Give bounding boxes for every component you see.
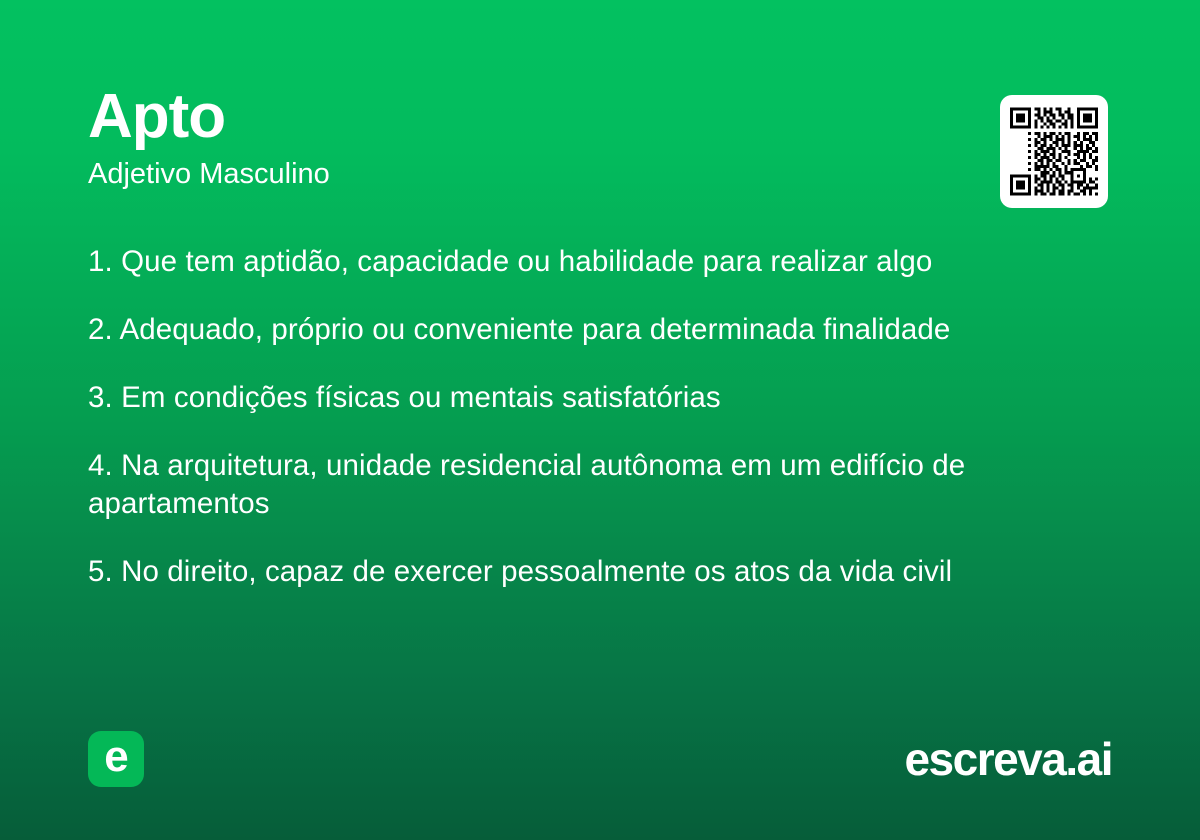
definition-list: 1. Que tem aptidão, capacidade ou habili… (88, 243, 1100, 591)
grammatical-class-label: Adjetivo Masculino (88, 157, 968, 192)
dictionary-definition-card: Apto Adjetivo Masculino (0, 0, 1200, 840)
page-title: Apto (88, 84, 968, 149)
card-header: Apto Adjetivo Masculino (88, 84, 968, 192)
list-item: 3. Em condições físicas ou mentais satis… (88, 379, 1100, 417)
logo-letter: e (104, 735, 127, 779)
qr-code-icon[interactable] (1000, 95, 1108, 208)
list-item: 2. Adequado, próprio ou conveniente para… (88, 311, 1100, 349)
brand-name: escreva.ai (904, 736, 1112, 782)
escreva-logo-icon: e (88, 731, 144, 787)
list-item: 1. Que tem aptidão, capacidade ou habili… (88, 243, 1100, 281)
list-item: 5. No direito, capaz de exercer pessoalm… (88, 553, 1048, 591)
list-item: 4. Na arquitetura, unidade residencial a… (88, 447, 1096, 523)
card-footer: e escreva.ai (0, 730, 1200, 788)
